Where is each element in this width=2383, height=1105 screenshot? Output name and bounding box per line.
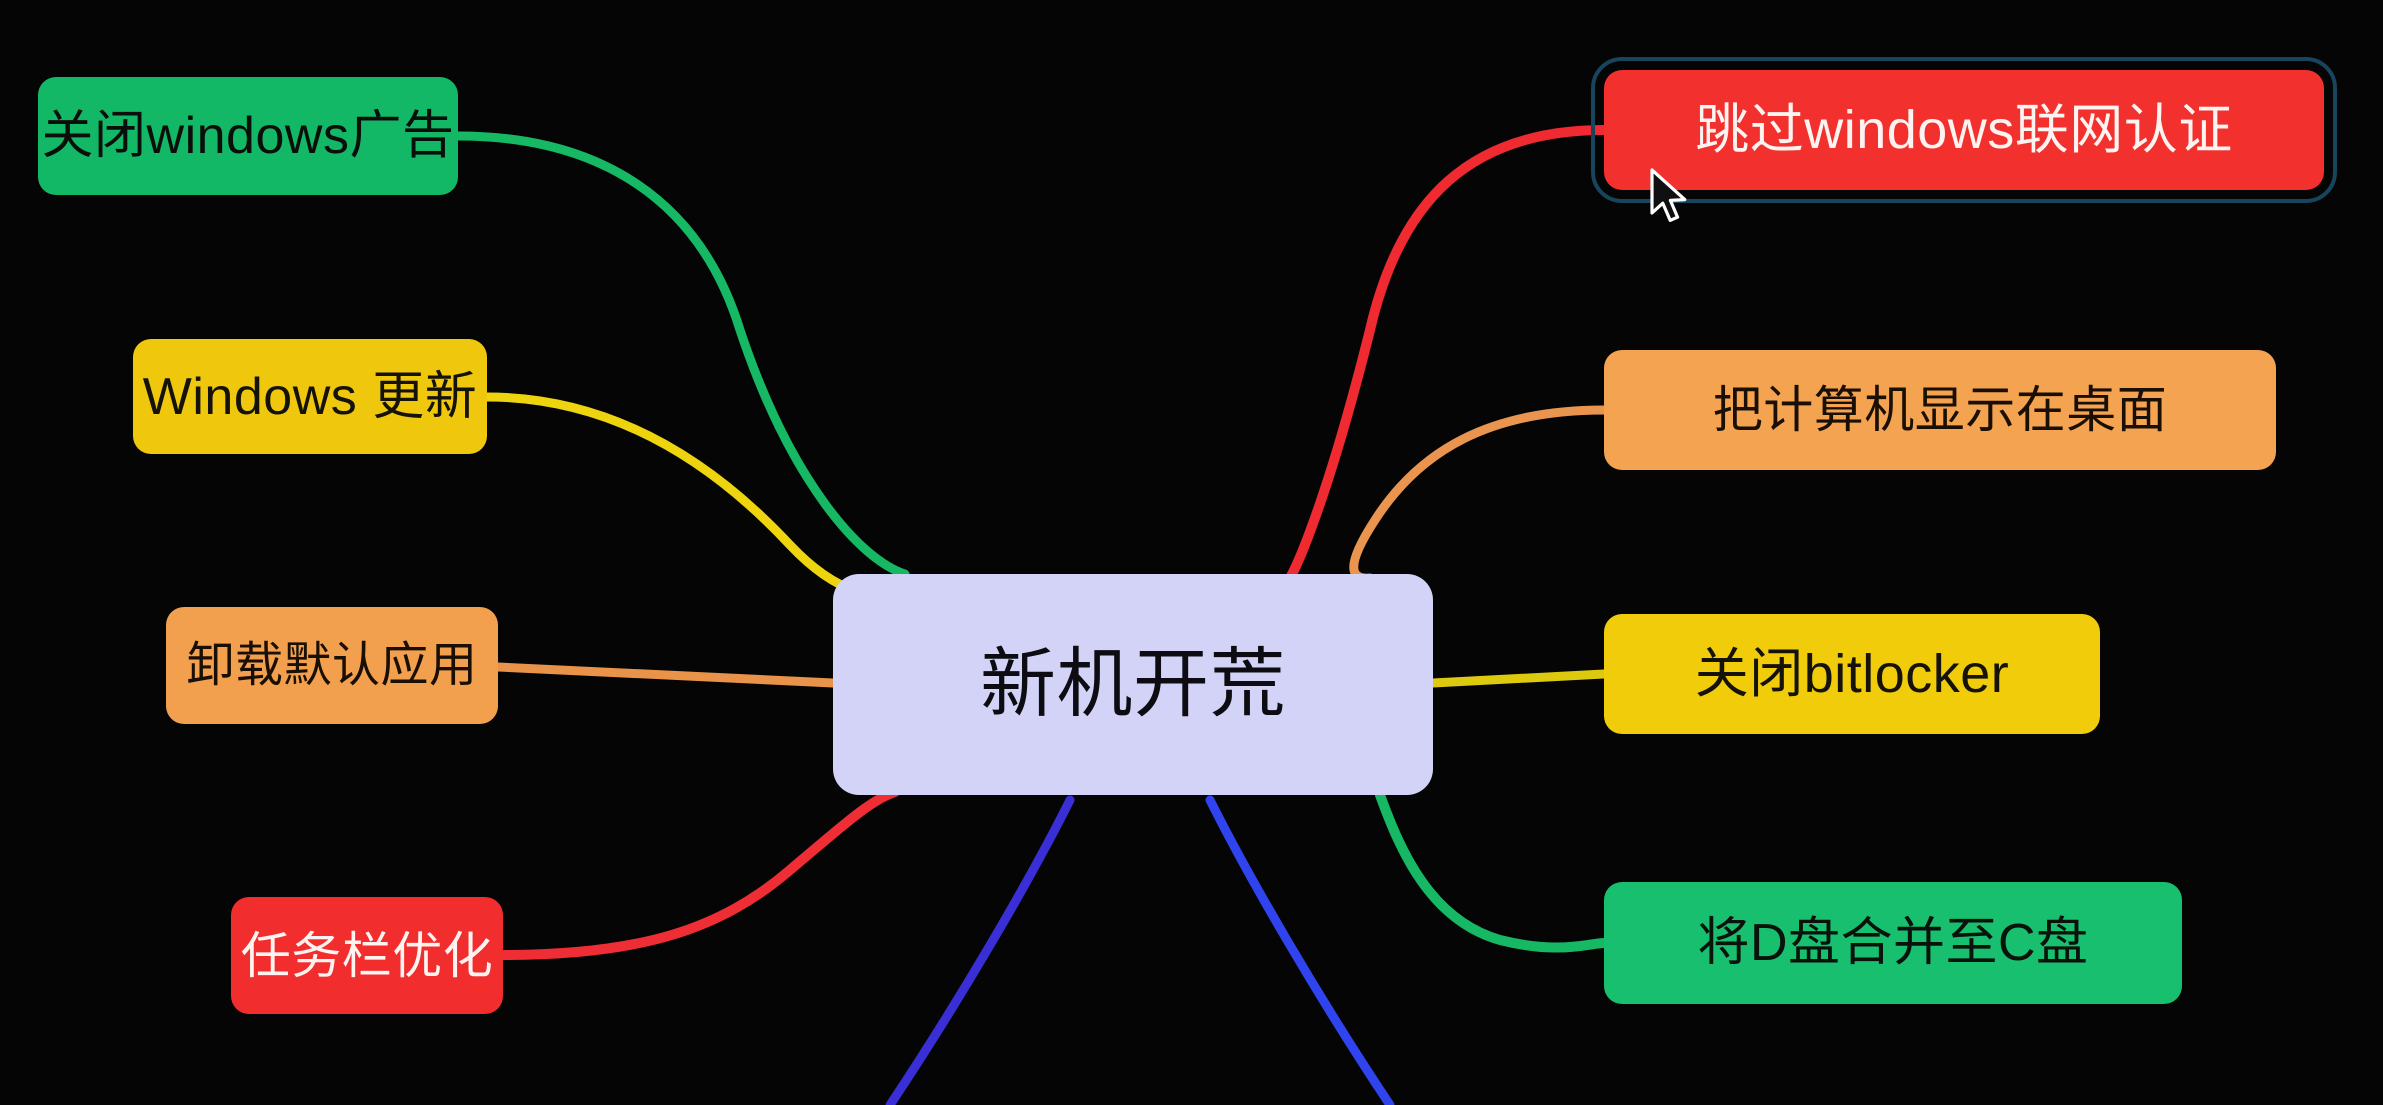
node-uninstall-default-apps[interactable]: 卸载默认应用 — [166, 607, 498, 724]
edge-bottom-left-branch — [890, 800, 1070, 1105]
edge-skip-windows-network-auth — [1290, 130, 1604, 578]
node-label: 把计算机显示在桌面 — [1713, 385, 2168, 435]
edge-windows-update — [487, 397, 905, 595]
node-merge-d-into-c[interactable]: 将D盘合并至C盘 — [1604, 882, 2182, 1004]
node-label: 将D盘合并至C盘 — [1697, 917, 2088, 969]
edge-close-windows-ads — [458, 136, 905, 574]
node-windows-update[interactable]: Windows 更新 — [133, 339, 487, 454]
edge-disable-bitlocker — [1433, 674, 1604, 683]
node-label: 关闭bitlocker — [1695, 647, 2010, 701]
node-disable-bitlocker[interactable]: 关闭bitlocker — [1604, 614, 2100, 734]
edge-uninstall-default-apps — [498, 667, 833, 683]
node-label: 卸载默认应用 — [186, 642, 477, 690]
node-label: Windows 更新 — [143, 371, 477, 423]
central-node[interactable]: 新机开荒 — [833, 574, 1433, 795]
edge-taskbar-optimization — [503, 792, 895, 955]
node-label: 关闭windows广告 — [42, 110, 455, 162]
node-label: 任务栏优化 — [241, 931, 494, 981]
node-taskbar-optimization[interactable]: 任务栏优化 — [231, 897, 503, 1014]
node-label: 跳过windows联网认证 — [1695, 103, 2233, 157]
mindmap-canvas: 新机开荒 关闭windows广告 Windows 更新 卸载默认应用 任务栏优化… — [0, 0, 2383, 1105]
edge-merge-d-into-c — [1380, 795, 1604, 948]
edge-bottom-right-branch — [1210, 800, 1390, 1105]
node-close-windows-ads[interactable]: 关闭windows广告 — [38, 77, 458, 195]
node-skip-windows-network-auth[interactable]: 跳过windows联网认证 — [1604, 70, 2324, 190]
edge-show-computer-on-desktop — [1354, 410, 1604, 578]
central-node-label: 新机开荒 — [980, 647, 1286, 723]
node-show-computer-on-desktop[interactable]: 把计算机显示在桌面 — [1604, 350, 2276, 470]
